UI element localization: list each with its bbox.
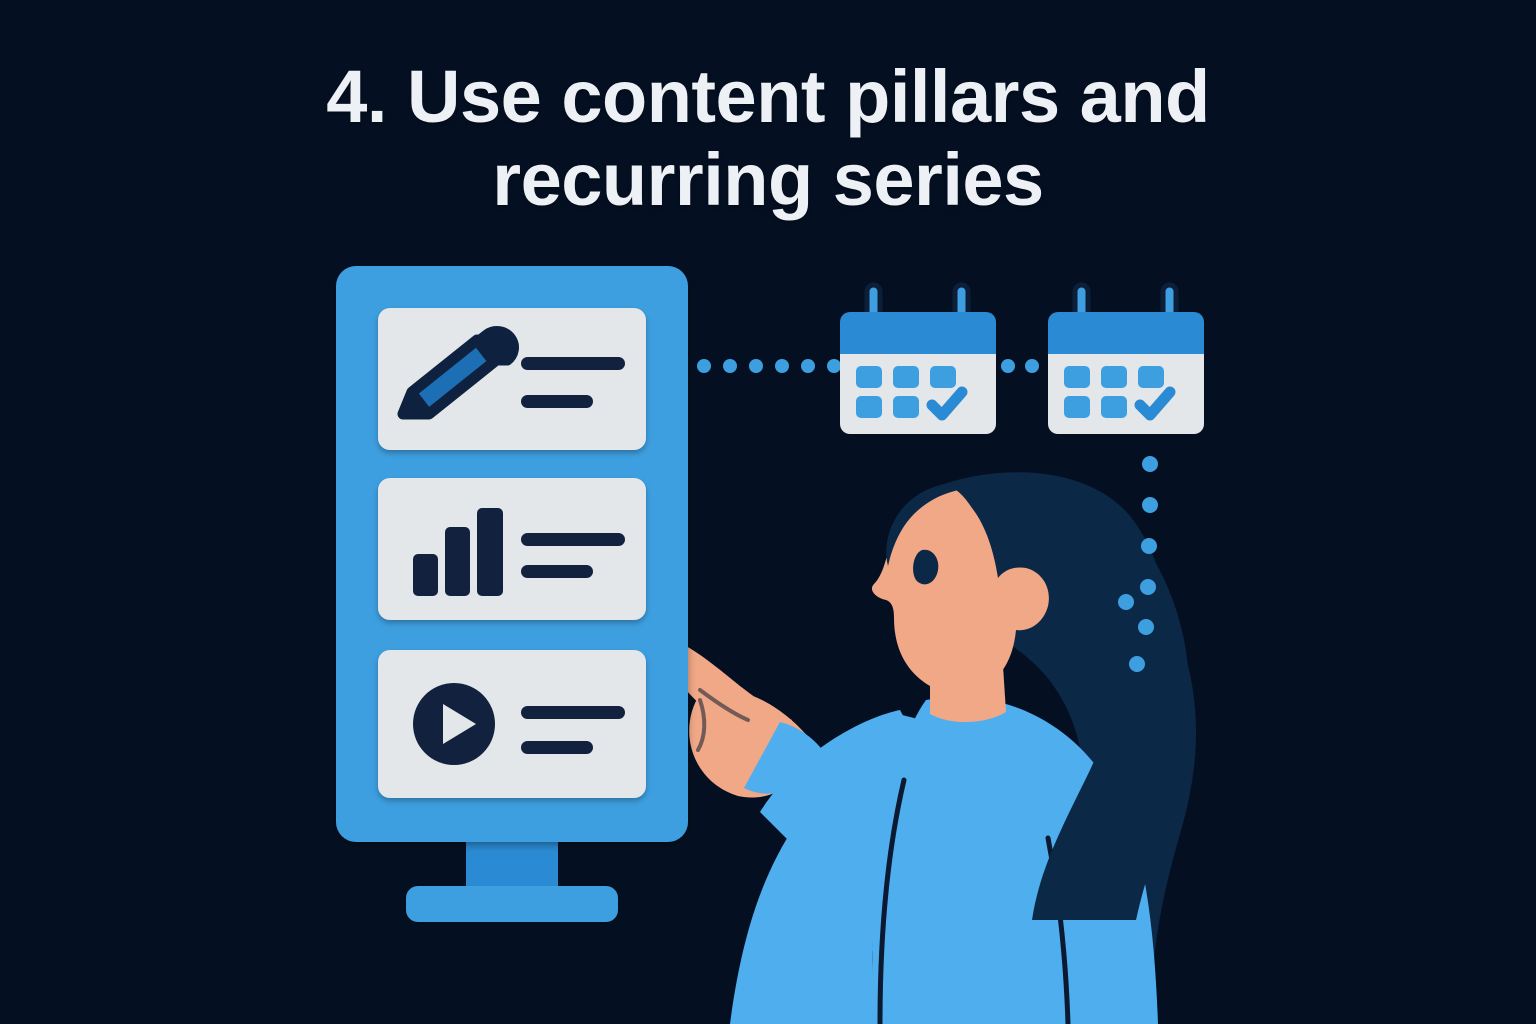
dotted-connector-tail-dots: [1118, 594, 1134, 610]
connector-tail-layer: [0, 0, 1536, 1024]
illustration-canvas: 4. Use content pillars and recurring ser…: [0, 0, 1536, 1024]
